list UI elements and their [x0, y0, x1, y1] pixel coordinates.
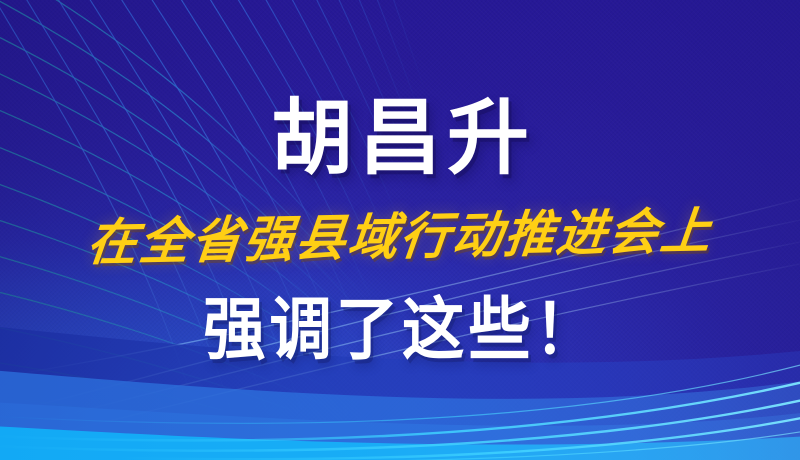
- poster-banner: 胡昌升 在全省强县域行动推进会上 强调了这些！: [0, 0, 800, 460]
- poster-subline: 强调了这些！: [32, 296, 768, 364]
- calligraphy-subtitle: 在全省强县域行动推进会上: [0, 204, 800, 269]
- poster-content: 胡昌升 在全省强县域行动推进会上 强调了这些！: [0, 0, 800, 460]
- page-title: 胡昌升: [0, 98, 800, 180]
